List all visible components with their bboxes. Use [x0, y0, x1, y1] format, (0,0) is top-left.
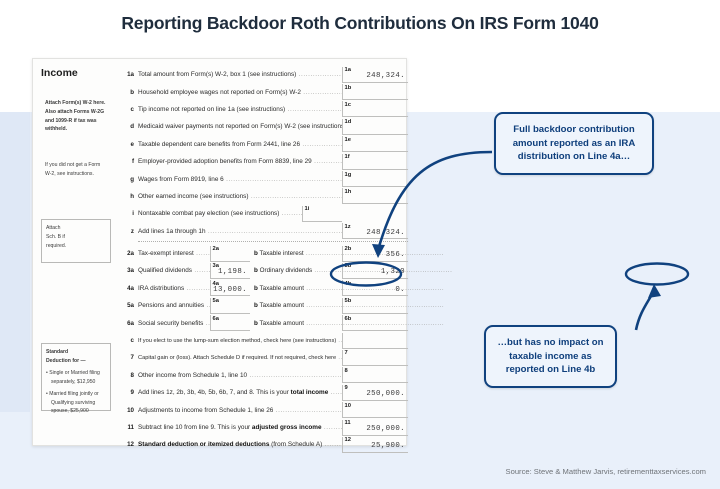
form-line-box-label: 5a	[213, 298, 219, 304]
form-line-b-description: b Taxable amount .......................…	[250, 302, 342, 309]
form-amount-cell[interactable]: 6a	[210, 315, 250, 331]
form-line-row: 12Standard deduction or itemized deducti…	[121, 436, 408, 453]
form-amount-value: 250,000.	[366, 425, 405, 433]
form-line-box-label: 1f	[345, 154, 350, 160]
dotted-leader: ........................................…	[184, 285, 210, 292]
side-note-no-w2: If you did not get a Form W-2, see instr…	[45, 161, 107, 179]
form-amount-value: 25,900.	[371, 442, 405, 450]
side-note-attach-w2: Attach Form(s) W-2 here. Also attach For…	[45, 99, 107, 134]
background-panel-left	[0, 112, 30, 412]
form-line-row: 1aTotal amount from Form(s) W-2, box 1 (…	[121, 66, 408, 83]
form-line-b-description: b Taxable amount .......................…	[250, 285, 342, 292]
form-line-number: 7	[121, 354, 138, 361]
callout-no-impact: …but has no impact on taxable income as …	[484, 325, 617, 388]
form-line-number: z	[121, 228, 138, 235]
form-line-row: gWages from Form 8919, line 6 ..........…	[121, 170, 408, 187]
form-line-number: f	[121, 158, 138, 165]
form-line-box-label: 6b	[345, 316, 352, 322]
form-line-number: 4a	[121, 285, 138, 292]
form-amount-value: 0.	[395, 286, 405, 294]
form-line-number: d	[121, 123, 138, 130]
dotted-leader: ........................................…	[322, 424, 342, 431]
form-amount-cell[interactable]: 2a	[210, 246, 250, 262]
form-line-box-label: 1a	[345, 67, 351, 73]
form-line-row: eTaxable dependent care benefits from Fo…	[121, 136, 408, 153]
form-line-b-description: b Taxable amount .......................…	[250, 320, 342, 327]
form-amount-cell[interactable]: 1g	[342, 171, 408, 187]
form-line-description: Tax-exempt interest ....................…	[138, 250, 210, 257]
form-amount-cell[interactable]: 10	[342, 402, 408, 418]
form-line-row: 6aSocial security benefits .............…	[121, 314, 408, 331]
form-amount-cell[interactable]: 1b	[342, 84, 408, 100]
form-amount-cell[interactable]: 1d	[342, 119, 408, 135]
form-line-number: 1a	[121, 71, 138, 78]
form-line-box-label: 2b	[345, 246, 352, 252]
form-amount-cell[interactable]	[342, 333, 408, 349]
std-ded-subtitle: Deduction for —	[46, 357, 106, 366]
form-line-number: h	[121, 193, 138, 200]
section-separator	[138, 241, 408, 244]
form-line-description: Other earned income (see instructions) .…	[138, 193, 342, 200]
form-line-box-label: 1e	[345, 137, 351, 143]
form-line-description: Qualified dividends ....................…	[138, 267, 210, 274]
screenshot-root: Reporting Backdoor Roth Contributions On…	[0, 0, 720, 489]
form-line-number: e	[121, 141, 138, 148]
form-line-description: Add lines 1z, 2b, 3b, 4b, 5b, 6b, 7, and…	[138, 389, 342, 396]
dotted-leader: ........................................…	[322, 441, 342, 448]
form-line-description: Add lines 1a through 1h ................…	[138, 228, 342, 235]
form-amount-value: 1,198.	[218, 268, 247, 276]
form-line-row: iNontaxable combat pay election (see ins…	[121, 205, 408, 222]
dotted-leader: ........................................…	[248, 193, 342, 200]
form-line-number: 3a	[121, 267, 138, 274]
page-title: Reporting Backdoor Roth Contributions On…	[0, 13, 720, 34]
income-section-heading: Income	[41, 67, 78, 79]
boxed-note-attach-sch-b: Attach Sch. B if required.	[41, 219, 111, 263]
form-line-number: b	[121, 89, 138, 96]
form-amount-cell[interactable]: 4a13,000.	[210, 280, 250, 296]
dotted-leader: ........................................…	[301, 89, 342, 96]
dotted-leader: ........................................…	[285, 106, 342, 113]
form-line-b-description: b Ordinary dividends ...................…	[250, 267, 342, 274]
form-line-description: Adjustments to income from Schedule 1, l…	[138, 407, 342, 414]
form-line-number: 10	[121, 407, 138, 414]
form-line-row: bHousehold employee wages not reported o…	[121, 83, 408, 100]
form-line-row: cTip income not reported on line 1a (see…	[121, 101, 408, 118]
form-line-number: 11	[121, 424, 138, 431]
form-line-box-label: 7	[345, 350, 348, 356]
form-line-box-label: 1i	[305, 206, 310, 212]
dotted-leader: ........................................…	[296, 71, 342, 78]
form-amount-cell[interactable]: 9250,000.	[342, 385, 408, 401]
form-line-description: IRA distributions ......................…	[138, 285, 210, 292]
form-line-row: 3aQualified dividends ..................…	[121, 262, 408, 279]
dotted-leader: ........................................…	[300, 141, 342, 148]
form-line-description: Subtract line 10 from line 9. This is yo…	[138, 424, 342, 431]
form-line-description: Capital gain or (loss). Attach Schedule …	[138, 355, 342, 361]
form-line-box-label: 9	[345, 385, 348, 391]
form-amount-cell[interactable]: 2b356.	[342, 246, 408, 262]
form-amount-value: 248,324.	[366, 229, 405, 237]
std-ded-bullet: • Married filing jointly or Qualifying s…	[46, 390, 106, 417]
form-amount-cell[interactable]: 1225,900.	[342, 437, 408, 453]
form-line-b-description: b Taxable interest .....................…	[250, 250, 342, 257]
form-line-box-label: 3b	[345, 263, 352, 269]
form-line-description: Pensions and annuities .................…	[138, 302, 210, 309]
dotted-leader: ........................................…	[192, 267, 210, 274]
form-line-box-label: 12	[345, 437, 351, 443]
boxed-note-line: Sch. B if	[46, 233, 106, 242]
boxed-note-line: required.	[46, 242, 106, 251]
dotted-leader: ........................................…	[206, 228, 342, 235]
form-amount-cell[interactable]: 3a1,198.	[210, 263, 250, 279]
form-amount-cell[interactable]	[342, 206, 408, 222]
source-attribution: Source: Steve & Matthew Jarvis, retireme…	[506, 467, 706, 476]
form-line-description: Household employee wages not reported on…	[138, 89, 342, 96]
form-line-box-label: 5b	[345, 298, 352, 304]
dotted-leader: ........................................…	[328, 389, 342, 396]
form-line-number: 6a	[121, 320, 138, 327]
form-amount-value: 250,000.	[366, 390, 405, 398]
form-line-description: Taxable dependent care benefits from For…	[138, 141, 342, 148]
form-line-description: Wages from Form 8919, line 6 ...........…	[138, 176, 342, 183]
form-line-box-label: 6a	[213, 316, 219, 322]
form-1040-image: Income Attach Form(s) W-2 here. Also att…	[32, 58, 407, 446]
form-line-row: 2aTax-exempt interest ..................…	[121, 245, 408, 262]
std-ded-bullet: • Single or Married filing separately, $…	[46, 369, 106, 387]
form-line-box-label: 1b	[345, 85, 352, 91]
form-line-description: Employer-provided adoption benefits from…	[138, 158, 342, 165]
form-line-description: Tip income not reported on line 1a (see …	[138, 106, 342, 113]
form-line-description: Medicaid waiver payments not reported on…	[138, 123, 342, 130]
form-line-description: Social security benefits ...............…	[138, 320, 210, 327]
form-line-number: 5a	[121, 302, 138, 309]
form-line-row: hOther earned income (see instructions) …	[121, 188, 408, 205]
form-amount-value: 248,324.	[366, 72, 405, 80]
form-amount-cell[interactable]: 4b0.	[342, 280, 408, 296]
form-line-box-label: 1h	[345, 189, 352, 195]
form-line-number: c	[121, 337, 138, 344]
dotted-leader: ........................................…	[273, 407, 342, 414]
dotted-leader: ........................................…	[247, 372, 342, 379]
form-line-rows: 1aTotal amount from Form(s) W-2, box 1 (…	[121, 66, 408, 454]
form-amount-value: 356.	[386, 251, 405, 259]
form-line-description: Other income from Schedule 1, line 10 ..…	[138, 372, 342, 379]
form-line-box-label: 2a	[213, 246, 219, 252]
form-line-box-label: 1z	[345, 224, 351, 230]
form-amount-cell[interactable]: 8	[342, 367, 408, 383]
callout-backdoor-contribution: Full backdoor contribution amount report…	[494, 112, 654, 175]
dotted-leader: ........................................…	[312, 158, 342, 165]
form-amount-cell[interactable]: 1i	[302, 206, 342, 222]
form-line-box-label: 1d	[345, 119, 352, 125]
dotted-leader: ........................................…	[194, 250, 210, 257]
form-line-number: 12	[121, 441, 138, 448]
form-line-number: 8	[121, 372, 138, 379]
form-line-box-label: 10	[345, 403, 351, 409]
form-line-box-label: 4b	[345, 281, 352, 287]
form-line-number: 2a	[121, 250, 138, 257]
form-line-box-label: 1g	[345, 172, 352, 178]
boxed-note-line: Attach	[46, 224, 106, 233]
form-line-description: Standard deduction or itemized deduction…	[138, 441, 342, 448]
form-line-row: 10Adjustments to income from Schedule 1,…	[121, 401, 408, 418]
form-line-description: Nontaxable combat pay election (see inst…	[138, 210, 302, 217]
form-amount-value: 13,000.	[213, 286, 247, 294]
form-line-row: 7Capital gain or (loss). Attach Schedule…	[121, 349, 408, 366]
form-line-row: fEmployer-provided adoption benefits fro…	[121, 153, 408, 170]
form-amount-cell[interactable]: 1e	[342, 136, 408, 152]
form-line-row: 9Add lines 1z, 2b, 3b, 4b, 5b, 6b, 7, an…	[121, 384, 408, 401]
form-line-number: g	[121, 176, 138, 183]
dotted-leader: ........................................…	[279, 210, 302, 217]
form-line-row: dMedicaid waiver payments not reported o…	[121, 118, 408, 135]
dotted-leader: ........................................…	[203, 320, 210, 327]
form-line-row: cIf you elect to use the lump-sum electi…	[121, 332, 408, 349]
form-line-box-label: 1c	[345, 102, 351, 108]
form-line-row: 5aPensions and annuities ...............…	[121, 297, 408, 314]
form-line-box-label: 11	[345, 420, 351, 426]
form-line-box-label: 8	[345, 368, 348, 374]
form-line-description: Total amount from Form(s) W-2, box 1 (se…	[138, 71, 342, 78]
form-line-row: 8Other income from Schedule 1, line 10 .…	[121, 367, 408, 384]
form-amount-cell[interactable]: 11250,000.	[342, 420, 408, 436]
form-line-description: If you elect to use the lump-sum electio…	[138, 338, 342, 344]
std-ded-title: Standard	[46, 348, 106, 357]
form-line-number: 9	[121, 389, 138, 396]
form-line-row-highlighted: 4aIRA distributions ....................…	[121, 280, 408, 297]
form-amount-cell[interactable]: 1a248,324.	[342, 67, 408, 83]
form-amount-cell[interactable]: 1f	[342, 154, 408, 170]
form-amount-cell[interactable]: 5b	[342, 298, 408, 314]
form-amount-cell[interactable]: 5a	[210, 298, 250, 314]
form-amount-cell[interactable]: 6b	[342, 315, 408, 331]
form-amount-cell[interactable]: 1z248,324.	[342, 223, 408, 239]
form-line-number: i	[121, 210, 138, 217]
form-amount-cell[interactable]: 3b1,320	[342, 263, 408, 279]
form-line-number: c	[121, 106, 138, 113]
form-line-row: zAdd lines 1a through 1h ...............…	[121, 223, 408, 240]
boxed-note-standard-deduction: Standard Deduction for — • Single or Mar…	[41, 343, 111, 411]
form-amount-cell[interactable]: 1h	[342, 188, 408, 204]
dotted-leader: ........................................…	[224, 176, 342, 183]
form-amount-cell[interactable]: 1c	[342, 101, 408, 117]
form-amount-cell[interactable]: 7	[342, 350, 408, 366]
form-line-row: 11Subtract line 10 from line 9. This is …	[121, 419, 408, 436]
form-amount-value: 1,320	[381, 268, 405, 276]
